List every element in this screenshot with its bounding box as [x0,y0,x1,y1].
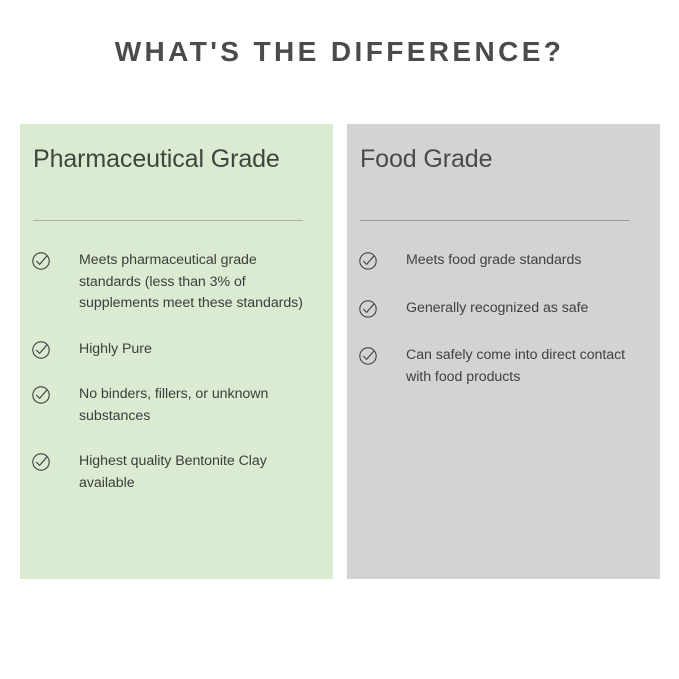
check-circle-icon [31,385,51,405]
card-pharmaceutical-grade: Pharmaceutical Grade Meets pharmaceutica… [20,124,333,579]
list-item: Highly Pure [20,339,333,361]
check-circle-icon [358,346,378,366]
list-item: Can safely come into direct contact with… [347,345,660,388]
list-item-label: Meets food grade standards [406,250,660,272]
check-circle-icon [358,251,378,271]
list-item-label: Highly Pure [79,339,333,361]
card-divider [360,220,630,221]
card-food-grade: Food Grade Meets food grade standards [347,124,660,579]
check-circle-icon [31,251,51,271]
check-circle-icon [31,452,51,472]
check-circle-icon [358,299,378,319]
list-item-label: Highest quality Bentonite Clay available [79,451,333,494]
list-item: Highest quality Bentonite Clay available [20,451,333,494]
list-item: Meets food grade standards [347,250,660,272]
card-heading-pharmaceutical-grade: Pharmaceutical Grade [33,143,313,175]
comparison-infographic: WHAT'S THE DIFFERENCE? Pharmaceutical Gr… [0,0,679,679]
card-divider [33,220,303,221]
list-item-label: Generally recognized as safe [406,298,660,320]
list-item-label: No binders, fillers, or unknown substanc… [79,384,333,427]
list-item-label: Meets pharmaceutical grade standards (le… [79,250,333,315]
check-circle-icon [31,340,51,360]
card-heading-food-grade: Food Grade [360,143,640,175]
list-item: Meets pharmaceutical grade standards (le… [20,250,333,315]
bullet-list-pharmaceutical-grade: Meets pharmaceutical grade standards (le… [20,250,333,518]
list-item-label: Can safely come into direct contact with… [406,345,660,388]
list-item: Generally recognized as safe [347,298,660,320]
list-item: No binders, fillers, or unknown substanc… [20,384,333,427]
page-title: WHAT'S THE DIFFERENCE? [0,36,679,68]
bullet-list-food-grade: Meets food grade standards Generally rec… [347,250,660,414]
